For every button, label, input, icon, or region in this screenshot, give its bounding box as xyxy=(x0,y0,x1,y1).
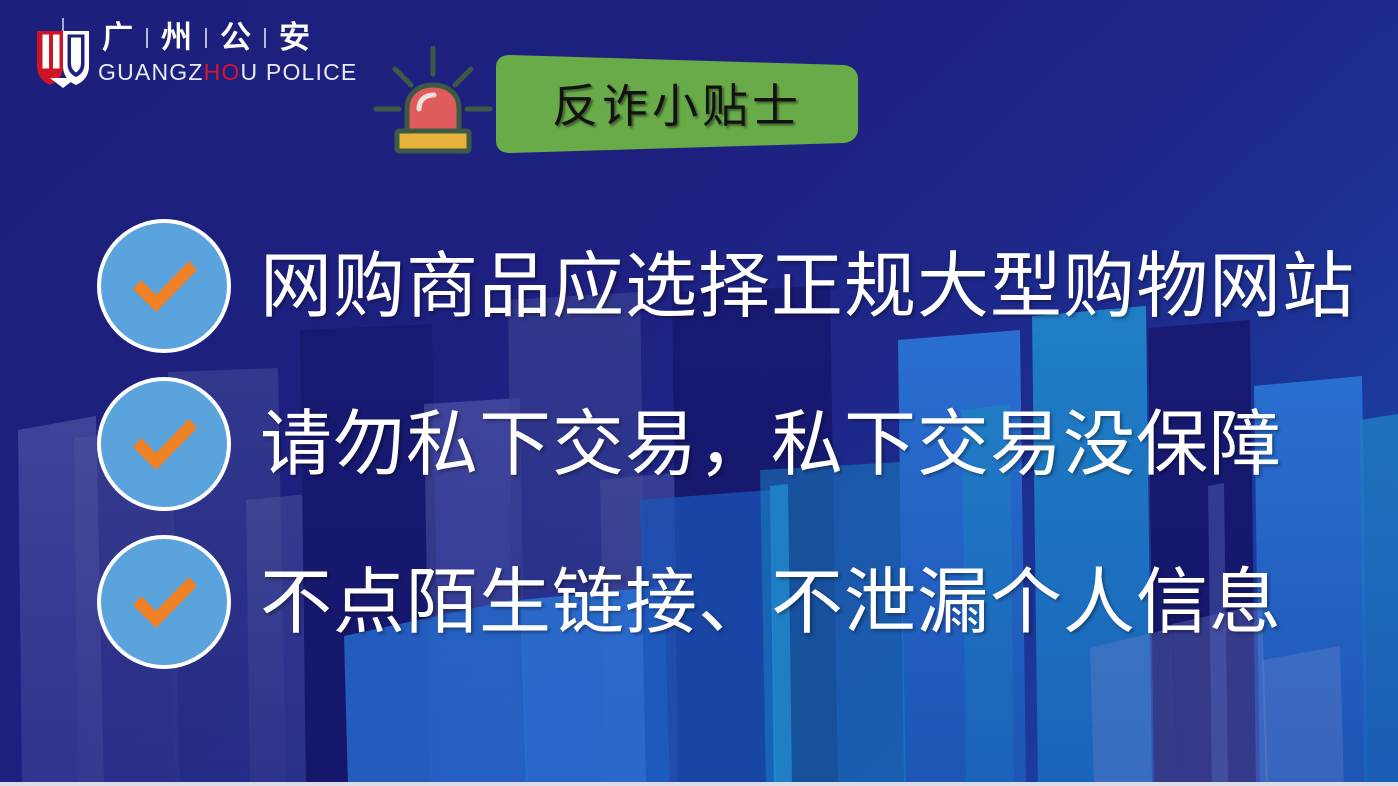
tips-list: 网购商品应选择正规大型购物网站 请勿私下交易，私下交易没保障 不点陌生链接、不泄… xyxy=(0,207,1398,681)
tip-text: 网购商品应选择正规大型购物网站 xyxy=(260,250,1355,322)
logo-separator-2 xyxy=(205,28,207,48)
guangzhou-police-logo: 广 州 公 安 GUANGZHOU POLICE xyxy=(34,18,357,88)
check-circle-icon xyxy=(97,535,231,669)
check-circle-icon xyxy=(97,219,231,353)
anti-fraud-poster: 广 州 公 安 GUANGZHOU POLICE xyxy=(0,0,1398,786)
tip-text: 不点陌生链接、不泄漏个人信息 xyxy=(260,566,1282,638)
logo-english-name: GUANGZHOU POLICE xyxy=(98,59,357,86)
bottom-edge-strip xyxy=(0,782,1398,786)
logo-wordmark: 广 州 公 安 GUANGZHOU POLICE xyxy=(98,18,357,86)
logo-chinese-name: 广 州 公 安 xyxy=(98,20,357,56)
siren-alarm-icon xyxy=(372,46,494,154)
tips-banner: 反诈小贴士 xyxy=(496,55,858,153)
tip-row: 网购商品应选择正规大型购物网站 xyxy=(0,207,1398,365)
check-circle-icon xyxy=(97,377,231,511)
logo-english-part-2: U POLICE xyxy=(241,59,358,85)
tip-text: 请勿私下交易，私下交易没保障 xyxy=(260,408,1282,480)
poster-header: 广 州 公 安 GUANGZHOU POLICE xyxy=(0,0,1398,170)
tips-banner-title: 反诈小贴士 xyxy=(496,55,858,153)
logo-char-3: 公 xyxy=(216,20,255,56)
logo-separator-1 xyxy=(146,28,148,48)
logo-char-2: 州 xyxy=(157,20,196,56)
logo-separator-3 xyxy=(264,28,266,48)
logo-english-part-1: GUANGZ xyxy=(98,59,204,85)
logo-english-highlight: HO xyxy=(204,59,241,85)
logo-char-4: 安 xyxy=(275,20,314,56)
tip-row: 不点陌生链接、不泄漏个人信息 xyxy=(0,523,1398,681)
logo-char-1: 广 xyxy=(98,20,137,56)
tip-row: 请勿私下交易，私下交易没保障 xyxy=(0,365,1398,523)
police-shield-icon xyxy=(34,18,92,88)
